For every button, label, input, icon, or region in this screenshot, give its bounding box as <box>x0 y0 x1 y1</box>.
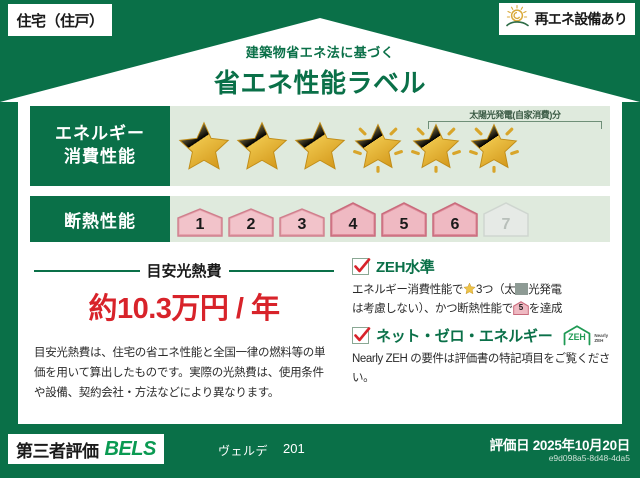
zeh-standard-block: ZEH水準 エネルギー消費性能で3つ（太光発電は考慮しない）、かつ断熱性能で5を… <box>352 256 612 318</box>
checkbox-checked-icon <box>352 258 369 275</box>
dwelling-type-badge: 住宅（住戸） <box>8 4 112 36</box>
utility-cost-note: 目安光熱費は、住宅の省エネ性能と全国一律の燃料等の単価を用いて算出したものです。… <box>34 343 334 403</box>
title-block: 建築物省エネ法に基づく 省エネ性能ラベル <box>0 42 640 100</box>
insulation-grade-7: 7 <box>482 201 530 237</box>
zeh-logo-sub-2: ZEH <box>594 338 603 343</box>
insulation-grade-number: 6 <box>431 216 479 234</box>
insulation-grade-1: 1 <box>176 207 224 237</box>
insulation-grade-number: 3 <box>278 216 326 234</box>
star-filled <box>234 118 290 174</box>
insulation-grades-area: 1 2 3 <box>170 196 610 242</box>
sun-icon <box>505 4 531 35</box>
solar-generation-note: 太陽光発電(自家消費)分 <box>426 108 604 121</box>
utility-cost-value: 約10.3万円 / 年 <box>34 285 334 327</box>
bels-prefix-text: 第三者評価 <box>16 437 99 462</box>
insulation-grade-number: 4 <box>329 216 377 234</box>
rule-right <box>229 270 335 272</box>
label-body: エネルギー 消費性能 太陽光発電(自家消費)分 <box>18 98 622 424</box>
lower-section: 目安光熱費 約10.3万円 / 年 目安光熱費は、住宅の省エネ性能と全国一律の燃… <box>18 250 622 424</box>
zeh-netzero-title: ネット・ゼロ・エネルギー <box>376 325 552 346</box>
zeh-netzero-text: Nearly ZEH の要件は評価書の特記項目をご覧ください。 <box>352 350 612 387</box>
insulation-grade-number: 1 <box>176 216 224 234</box>
insulation-grade-inline-number: 5 <box>513 302 529 315</box>
evaluation-id: e9d098a5-8d48-4da5 <box>549 453 630 463</box>
insulation-performance-row: 断熱性能 1 <box>30 196 610 242</box>
zeh-standard-text-4: を達成 <box>529 303 562 315</box>
svg-text:ZEH: ZEH <box>569 332 587 342</box>
insulation-grade-4: 4 <box>329 201 377 237</box>
energy-label-line2: 消費性能 <box>64 146 136 169</box>
star-filled <box>292 118 348 174</box>
zeh-logo-sublabel: Nearly ZEH <box>594 334 608 346</box>
utility-cost-heading: 目安光熱費 <box>34 260 334 281</box>
insulation-grade-2: 2 <box>227 207 275 237</box>
redacted-character <box>515 283 528 295</box>
zeh-standard-star-count: 3つ（太 <box>476 284 515 296</box>
evaluation-date: 評価日 2025年10月20日 <box>490 434 630 454</box>
zeh-block: ZEH水準 エネルギー消費性能で3つ（太光発電は考慮しない）、かつ断熱性能で5を… <box>348 250 622 424</box>
zeh-netzero-block: ネット・ゼロ・エネルギー ZEH Nearly ZEH <box>352 324 612 387</box>
star-filled-solar <box>350 118 406 174</box>
bels-badge: 第三者評価 BELS <box>8 434 164 464</box>
unit-number: 201 <box>283 441 305 456</box>
insulation-grade-number: 2 <box>227 216 275 234</box>
insulation-grade-3: 3 <box>278 207 326 237</box>
bels-mark-text: BELS <box>105 438 156 461</box>
energy-performance-row: エネルギー 消費性能 太陽光発電(自家消費)分 <box>30 106 610 186</box>
star-inline-icon <box>463 282 476 295</box>
energy-performance-label: エネルギー 消費性能 <box>30 106 170 186</box>
utility-cost-block: 目安光熱費 約10.3万円 / 年 目安光熱費は、住宅の省エネ性能と全国一律の燃… <box>18 250 348 424</box>
solar-span-bracket <box>428 121 602 129</box>
energy-stars-area: 太陽光発電(自家消費)分 <box>170 106 610 186</box>
insulation-grade-list: 1 2 3 <box>170 196 610 242</box>
renewable-energy-badge: 再エネ設備あり <box>499 3 635 35</box>
insulation-grade-number: 5 <box>380 216 428 234</box>
zeh-logo: ZEH Nearly ZEH <box>562 324 608 346</box>
insulation-grade-number: 7 <box>482 216 530 234</box>
zeh-standard-text-2: 光発電 <box>528 284 561 296</box>
checkbox-checked-icon <box>352 327 369 344</box>
insulation-performance-label: 断熱性能 <box>30 196 170 242</box>
zeh-house-icon: ZEH <box>562 324 592 346</box>
utility-cost-label: 目安光熱費 <box>147 260 222 281</box>
renewable-energy-text: 再エネ設備あり <box>535 9 627 29</box>
insulation-grade-5: 5 <box>380 201 428 237</box>
star-filled <box>176 118 232 174</box>
zeh-standard-heading: ZEH水準 <box>352 256 612 277</box>
energy-label-line1: エネルギー <box>55 123 145 146</box>
zeh-netzero-heading: ネット・ゼロ・エネルギー ZEH Nearly ZEH <box>352 324 612 346</box>
page-title: 省エネ性能ラベル <box>0 63 640 100</box>
zeh-standard-text-3: は考慮しない）、かつ断熱性能で <box>352 303 513 315</box>
title-subtitle: 建築物省エネ法に基づく <box>0 42 640 61</box>
energy-label-card: 住宅（住戸） 再エネ設備あり 建築物省エネ法に基づく <box>0 0 640 478</box>
footer: 第三者評価 BELS ヴェルデ 201 評価日 2025年10月20日 e9d0… <box>0 426 640 478</box>
building-name: ヴェルデ <box>218 442 268 459</box>
dwelling-type-text: 住宅（住戸） <box>16 10 103 31</box>
zeh-standard-text-1: エネルギー消費性能で <box>352 284 463 296</box>
zeh-standard-title: ZEH水準 <box>376 256 435 277</box>
insulation-grade-6: 6 <box>431 201 479 237</box>
rule-left <box>34 270 140 272</box>
insulation-label-text: 断熱性能 <box>64 207 136 232</box>
zeh-standard-text: エネルギー消費性能で3つ（太光発電は考慮しない）、かつ断熱性能で5を達成 <box>352 281 612 318</box>
insulation-grade-inline-icon: 5 <box>513 301 529 315</box>
